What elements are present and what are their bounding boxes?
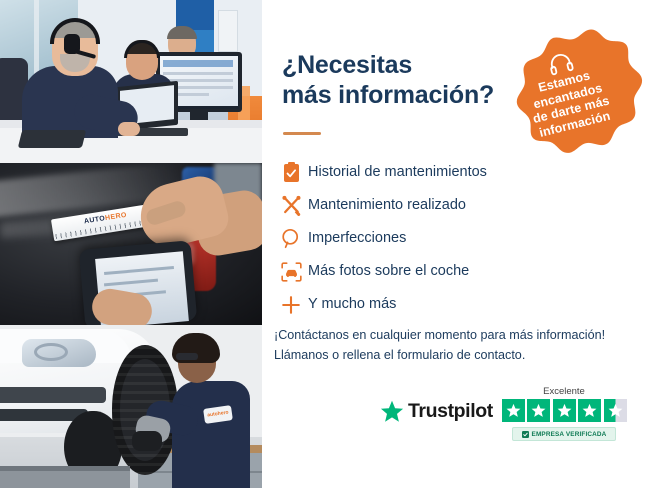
rating-stars [498, 399, 630, 422]
trustpilot-name: Trustpilot [408, 400, 493, 423]
paragraph-line-2: Llámanos o rellena el formulario de cont… [274, 345, 634, 365]
star-5-half [604, 399, 627, 422]
badge-text: Estamos encantados de darte más informac… [505, 61, 634, 146]
contact-paragraph: ¡Contáctanos en cualquier momento para m… [274, 325, 634, 366]
feature-item-mucho-mas: Y mucho más [274, 288, 634, 321]
trustpilot-star-icon [380, 400, 404, 423]
car-inspection-ruler-photo: AUTOHERO [0, 163, 262, 325]
feature-item-fotos: Más fotos sobre el coche [274, 255, 634, 288]
star-3 [553, 399, 576, 422]
plus-icon [274, 293, 308, 317]
verified-check-icon [522, 431, 529, 438]
headline-line-1: ¿Necesitas [282, 51, 412, 79]
mechanic-tyre-photo: autohero [0, 325, 262, 488]
feature-label: Imperfecciones [308, 231, 406, 246]
trustpilot-widget[interactable]: Trustpilot Excelente [380, 386, 630, 452]
trustpilot-logo[interactable]: Trustpilot [380, 400, 493, 423]
paragraph-line-1: ¡Contáctanos en cualquier momento para m… [274, 325, 634, 345]
promo-banner: AUTOHERO autohero [0, 0, 650, 488]
checklist-clipboard-icon [274, 161, 308, 185]
support-badge: Estamos encantados de darte más informac… [494, 26, 644, 176]
car-photo-frame-icon [274, 260, 308, 284]
feature-item-mantenimiento: Mantenimiento realizado [274, 189, 634, 222]
headline-line-2: más información? [282, 80, 522, 110]
trustpilot-rating-block: Excelente [498, 386, 630, 441]
call-center-agents-photo [0, 0, 262, 163]
verified-business-badge: EMPRESA VERIFICADA [512, 427, 616, 441]
feature-item-historial: Historial de mantenimientos [274, 156, 634, 189]
wrench-screwdriver-icon [274, 194, 308, 218]
star-2 [527, 399, 550, 422]
feature-label: Historial de mantenimientos [308, 165, 487, 180]
photo-column: AUTOHERO autohero [0, 0, 262, 488]
feature-item-imperfecciones: Imperfecciones [274, 222, 634, 255]
content-panel: ¿Necesitas más información? Estamos enca… [262, 0, 650, 488]
feature-list: Historial de mantenimientos Mantenimient… [274, 156, 634, 321]
feature-label: Más fotos sobre el coche [308, 264, 469, 279]
star-4 [578, 399, 601, 422]
magnifier-icon [274, 227, 308, 251]
feature-label: Y mucho más [308, 297, 396, 312]
feature-label: Mantenimiento realizado [308, 198, 466, 213]
title-underline-rule [283, 132, 321, 135]
rating-label: Excelente [498, 386, 630, 397]
verified-label: EMPRESA VERIFICADA [532, 431, 607, 438]
star-1 [502, 399, 525, 422]
